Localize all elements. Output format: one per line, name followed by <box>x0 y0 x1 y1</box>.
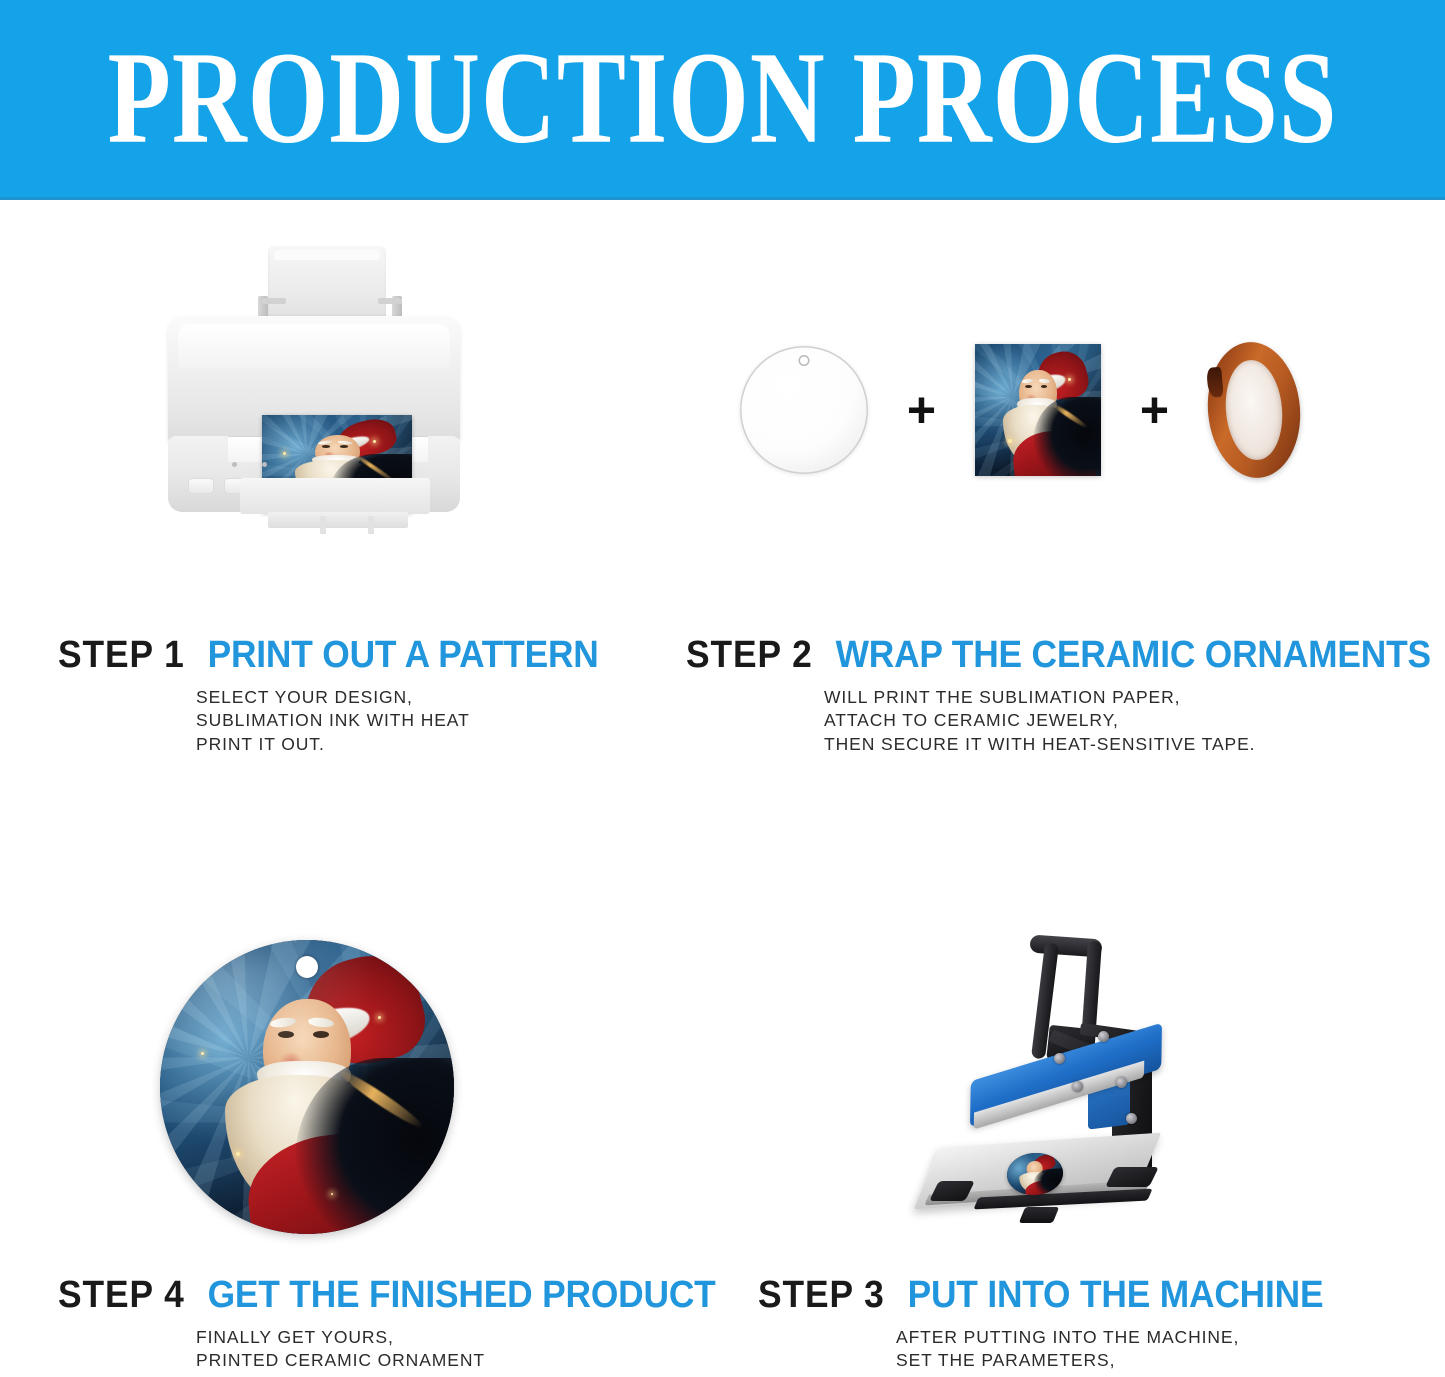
ornament-on-platen <box>1006 1151 1065 1197</box>
step-3-description: AFTER PUTTING INTO THE MACHINE, SET THE … <box>758 1326 1398 1377</box>
step-4-text-block: STEP 4 GET THE FINISHED PRODUCT FINALLY … <box>58 1276 698 1373</box>
press-bolt <box>1116 1077 1127 1088</box>
ornament-hanging-hole <box>296 956 318 978</box>
blank-ceramic-disc <box>740 346 868 474</box>
step-2-description: WILL PRINT THE SUBLIMATION PAPER, ATTACH… <box>686 686 1386 756</box>
step-1-kicker: STEP 1 <box>58 634 185 676</box>
components-row: + + <box>740 320 1300 500</box>
heat-tape-roll <box>1202 338 1306 482</box>
press-bolt <box>1072 1081 1083 1092</box>
printer-led-indicator <box>232 462 237 467</box>
printer-paper-tray <box>268 246 386 318</box>
step-4-kicker: STEP 4 <box>58 1274 185 1316</box>
step-1-text-block: STEP 1 PRINT OUT A PATTERN SELECT YOUR D… <box>58 636 678 756</box>
step-1-description: SELECT YOUR DESIGN, SUBLIMATION INK WITH… <box>58 686 678 756</box>
plus-icon: + <box>907 385 936 435</box>
printer-output-tray <box>240 478 430 514</box>
step-3-text-block: STEP 3 PUT INTO THE MACHINE AFTER PUTTIN… <box>758 1276 1398 1377</box>
artwork-sparkle <box>201 1052 204 1055</box>
step-4-heading: STEP 4 GET THE FINISHED PRODUCT <box>58 1276 653 1314</box>
santa-art-square <box>975 344 1101 476</box>
step-2-text-block: STEP 2 WRAP THE CERAMIC ORNAMENTS WILL P… <box>686 636 1386 756</box>
header-banner: PRODUCTION PROCESS <box>0 0 1445 200</box>
press-foot-right <box>1105 1167 1159 1187</box>
step-1-heading: STEP 1 PRINT OUT A PATTERN <box>58 636 635 674</box>
disc-hanging-hole <box>799 355 810 366</box>
press-bolt <box>1126 1113 1137 1124</box>
step-4-title: GET THE FINISHED PRODUCT <box>208 1274 716 1316</box>
artwork-sparkle <box>1008 439 1012 443</box>
santa-eye-left <box>322 445 330 447</box>
press-bolt <box>1098 1031 1109 1042</box>
step-2-kicker: STEP 2 <box>686 634 813 676</box>
step-3-kicker: STEP 3 <box>758 1274 885 1316</box>
printer-tray-support <box>320 516 326 534</box>
printer-guide-right <box>378 298 402 304</box>
printer-output-tray-extension <box>268 512 408 528</box>
infographic-page: PRODUCTION PROCESS <box>0 0 1445 1377</box>
printer-led-indicator <box>262 462 267 467</box>
step-3-title: PUT INTO THE MACHINE <box>908 1274 1324 1316</box>
press-bolt <box>1054 1053 1065 1064</box>
step-3-heading: STEP 3 PUT INTO THE MACHINE <box>758 1276 1353 1314</box>
printer-power-button <box>188 478 214 494</box>
step-2-heading: STEP 2 WRAP THE CERAMIC ORNAMENTS <box>686 636 1337 674</box>
printer-illustration <box>150 240 480 560</box>
printer-guide-left <box>262 298 286 304</box>
santa-eye-left <box>278 1031 294 1038</box>
printer-tray-support <box>368 516 374 534</box>
press-front-foot <box>1019 1207 1059 1223</box>
page-title: PRODUCTION PROCESS <box>29 33 1416 165</box>
plus-icon: + <box>1140 385 1169 435</box>
santa-eye-right <box>340 445 348 447</box>
finished-santa-ornament <box>160 940 454 1234</box>
step-2-title: WRAP THE CERAMIC ORNAMENTS <box>836 634 1431 676</box>
step-1-title: PRINT OUT A PATTERN <box>208 634 599 676</box>
heat-press-illustration <box>930 935 1220 1235</box>
step-4-description: FINALLY GET YOURS, PRINTED CERAMIC ORNAM… <box>58 1326 698 1373</box>
